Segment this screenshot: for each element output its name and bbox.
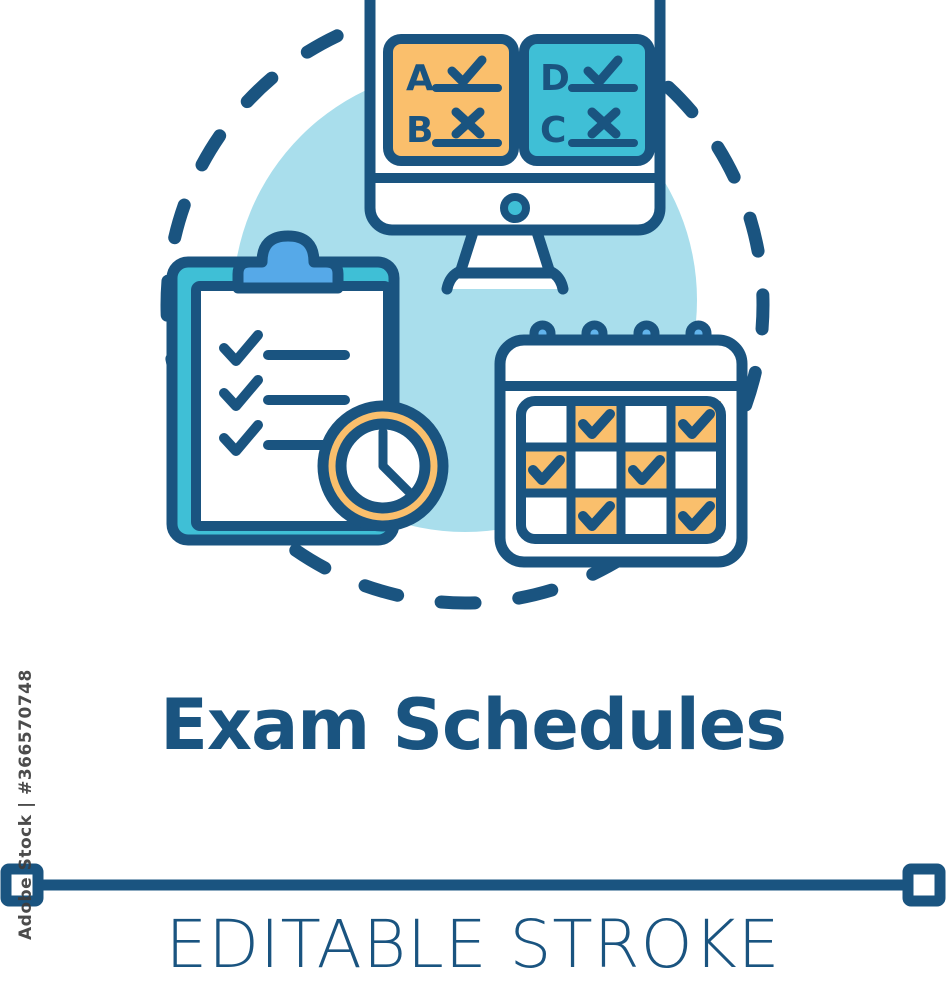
illustration-canvas: A B D C xyxy=(0,0,946,1000)
clock xyxy=(323,406,443,526)
stock-watermark: Adobe Stock | #366570748 xyxy=(16,680,36,940)
page-title: Exam Schedules xyxy=(0,690,946,760)
calendar-cell xyxy=(571,447,621,493)
title-container: Exam Schedules xyxy=(0,690,946,760)
calendar-cell xyxy=(621,401,671,447)
monitor-webcam-icon xyxy=(504,197,526,219)
editable-stroke-container: EDITABLE STROKE xyxy=(0,912,946,978)
calendar xyxy=(500,325,742,562)
panel-right-letter-c: C xyxy=(540,110,566,151)
exam-schedules-illustration: A B D C xyxy=(0,0,946,660)
panel-left-letter-a: A xyxy=(406,58,434,99)
calendar-cell xyxy=(671,447,721,493)
stroke-node-right[interactable] xyxy=(908,869,940,901)
monitor-neck xyxy=(460,229,550,273)
panel-right-letter-d: D xyxy=(540,58,570,99)
calendar-grid xyxy=(521,401,721,539)
panel-left-letter-b: B xyxy=(406,110,433,151)
calendar-cell xyxy=(621,493,671,539)
editable-stroke-label: EDITABLE STROKE xyxy=(0,912,946,978)
